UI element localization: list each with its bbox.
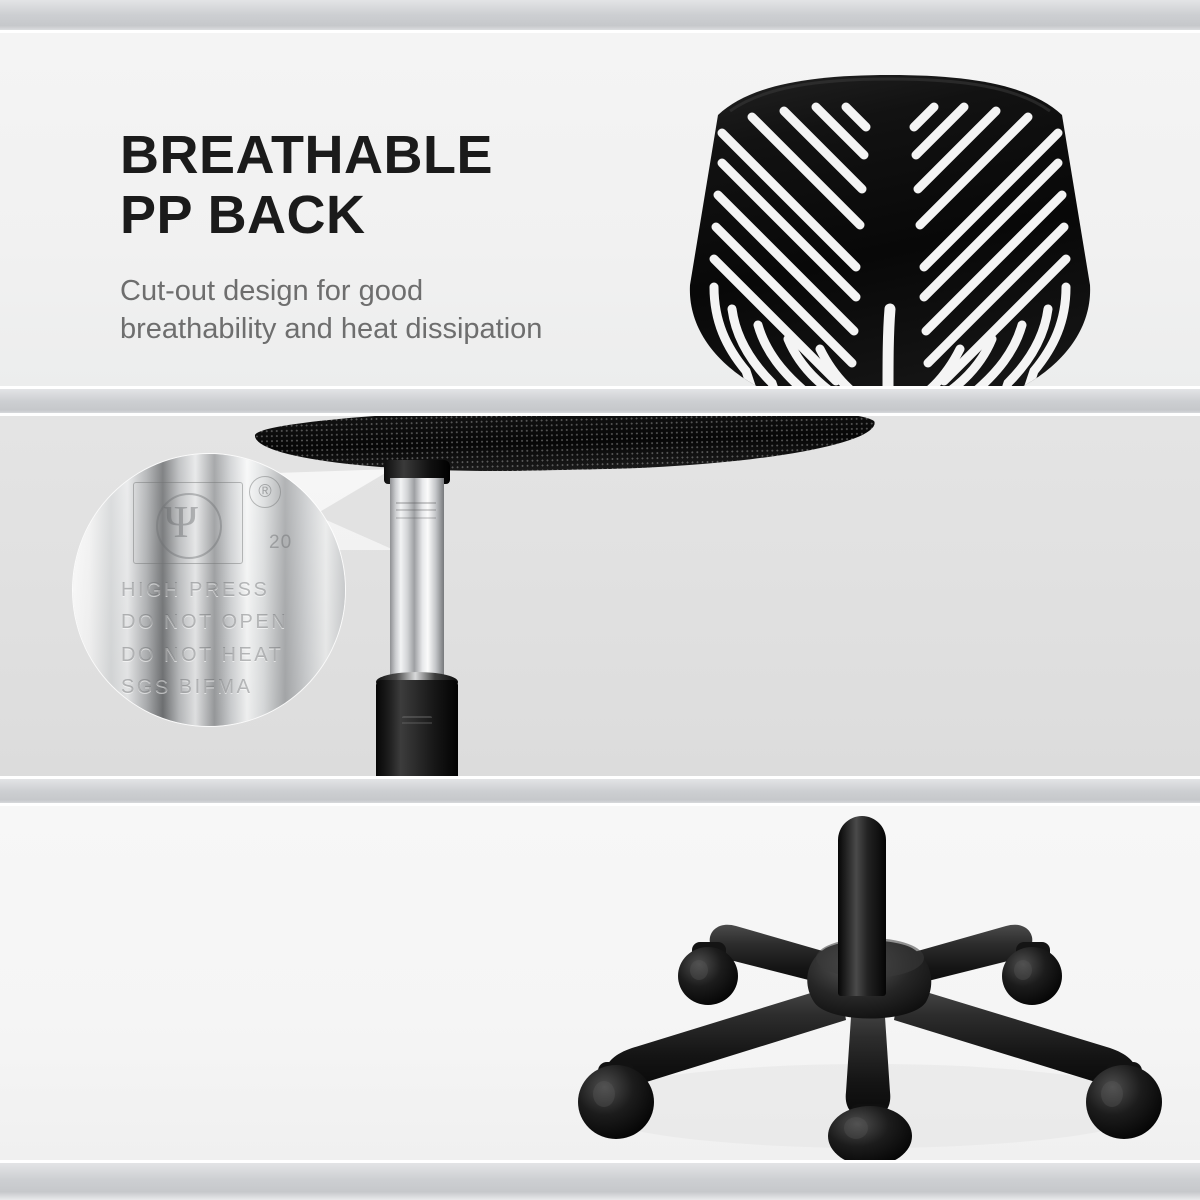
engraved-logo-box: Ψ <box>133 482 243 564</box>
engraved-line-2: DO NOT OPEN <box>121 606 345 638</box>
divider-band-2 <box>0 779 1200 806</box>
engraved-line-3: DO NOT HEAT <box>121 639 345 671</box>
panel-1-subline: Cut-out design for good breathability an… <box>120 272 542 349</box>
engraved-line-1: HIGH PRESS <box>121 574 345 606</box>
mesh-seat-underside <box>254 416 875 476</box>
engraved-registered-mark: ® <box>249 476 281 508</box>
divider-band-top <box>0 0 1200 33</box>
panel-sgs-cylinder: Ψ ® 20 HIGH PRESS DO NOT OPEN DO NOT HEA… <box>0 416 1200 779</box>
engraved-code: 20 <box>269 532 292 554</box>
cylinder-chrome-shaft <box>390 478 444 678</box>
divider-band-bottom <box>0 1163 1200 1200</box>
panel-breathable-pp-back: BREATHABLE PP BACK Cut-out design for go… <box>0 33 1200 389</box>
base-arm-front-center <box>846 1002 891 1118</box>
base-gas-column <box>838 816 886 996</box>
divider-band-1 <box>0 389 1200 416</box>
divider-hairline-2a <box>0 776 1200 779</box>
infographic-sheet: BREATHABLE PP BACK Cut-out design for go… <box>0 0 1200 1200</box>
engraved-warning-lines: HIGH PRESS DO NOT OPEN DO NOT HEAT SGS B… <box>121 574 345 704</box>
divider-hairline-bottom <box>0 1160 1200 1163</box>
panel-1-text: BREATHABLE PP BACK Cut-out design for go… <box>120 125 542 348</box>
engraved-line-4: SGS BIFMA <box>121 671 345 703</box>
panel-1-headline: BREATHABLE PP BACK <box>120 125 542 246</box>
panel-sturdy-base: STURDY BASE Large and wide star base ser… <box>0 806 1200 1163</box>
chair-back-image <box>660 71 1120 389</box>
chair-back-svg <box>660 71 1120 389</box>
cylinder-black-sleeve <box>376 680 458 779</box>
engraved-logo-glyph: Ψ <box>164 495 198 548</box>
magnifier-detail-circle: Ψ ® 20 HIGH PRESS DO NOT OPEN DO NOT HEA… <box>73 454 345 726</box>
divider-hairline-1a <box>0 386 1200 389</box>
